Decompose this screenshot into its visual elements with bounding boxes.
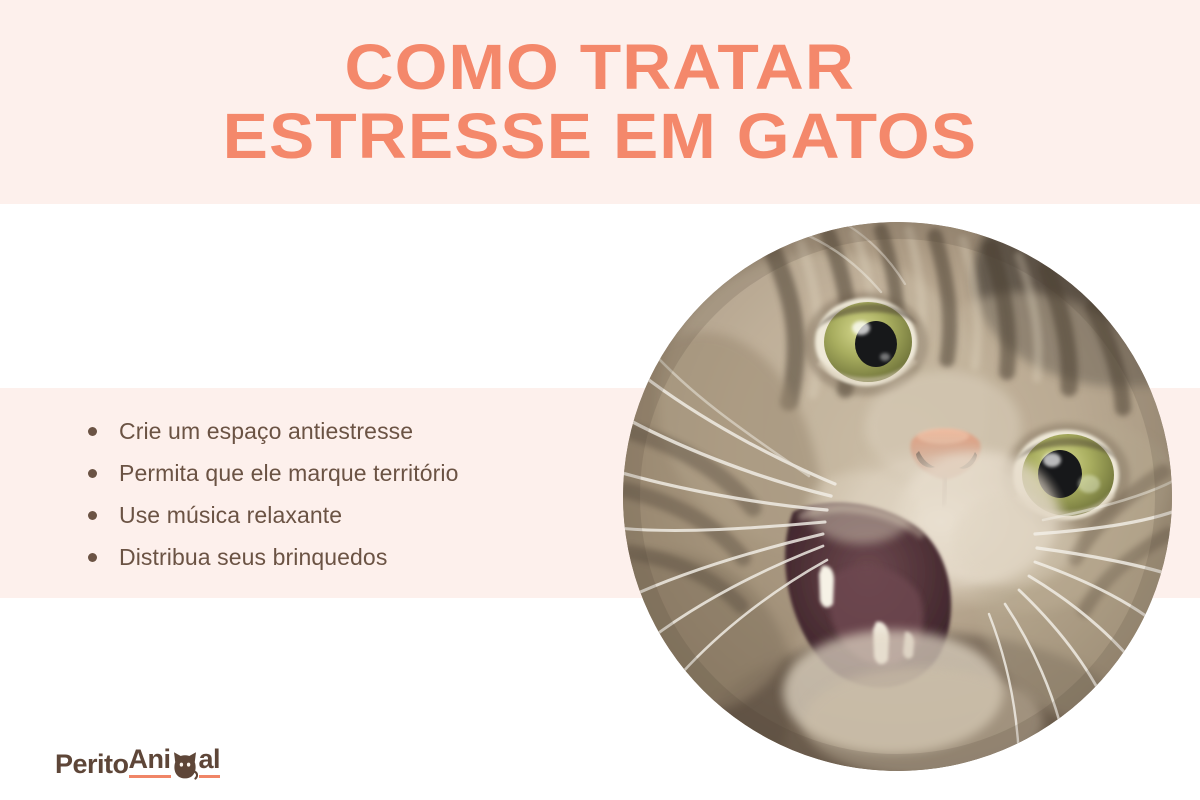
bullet-icon [88,553,97,562]
bullet-icon [88,427,97,436]
list-item-label: Distribua seus brinquedos [119,544,387,571]
infographic-canvas: COMO TRATAR ESTRESSE EM GATOS Crie um es… [0,0,1200,800]
logo-text-perito: Perito [55,751,129,778]
cat-icon [172,750,198,780]
bullet-icon [88,511,97,520]
list-item: Use música relaxante [88,494,459,536]
header-band: COMO TRATAR ESTRESSE EM GATOS [0,0,1200,204]
list-item: Crie um espaço antiestresse [88,410,459,452]
list-item-label: Permita que ele marque território [119,460,459,487]
logo-text-al: al [199,746,221,778]
list-item: Permita que ele marque território [88,452,459,494]
list-item: Distribua seus brinquedos [88,536,459,578]
list-item-label: Crie um espaço antiestresse [119,418,413,445]
tips-list: Crie um espaço antiestresse Permita que … [88,410,459,578]
page-title-line-1: COMO TRATAR [345,36,855,99]
cat-photo [623,222,1172,771]
page-title-line-2: ESTRESSE EM GATOS [223,105,977,168]
bullet-icon [88,469,97,478]
list-item-label: Use música relaxante [119,502,342,529]
logo-text-ani: Ani [129,746,171,778]
peritoanimal-logo[interactable]: Perito Ani al [55,744,220,778]
cat-illustration [623,222,1172,771]
